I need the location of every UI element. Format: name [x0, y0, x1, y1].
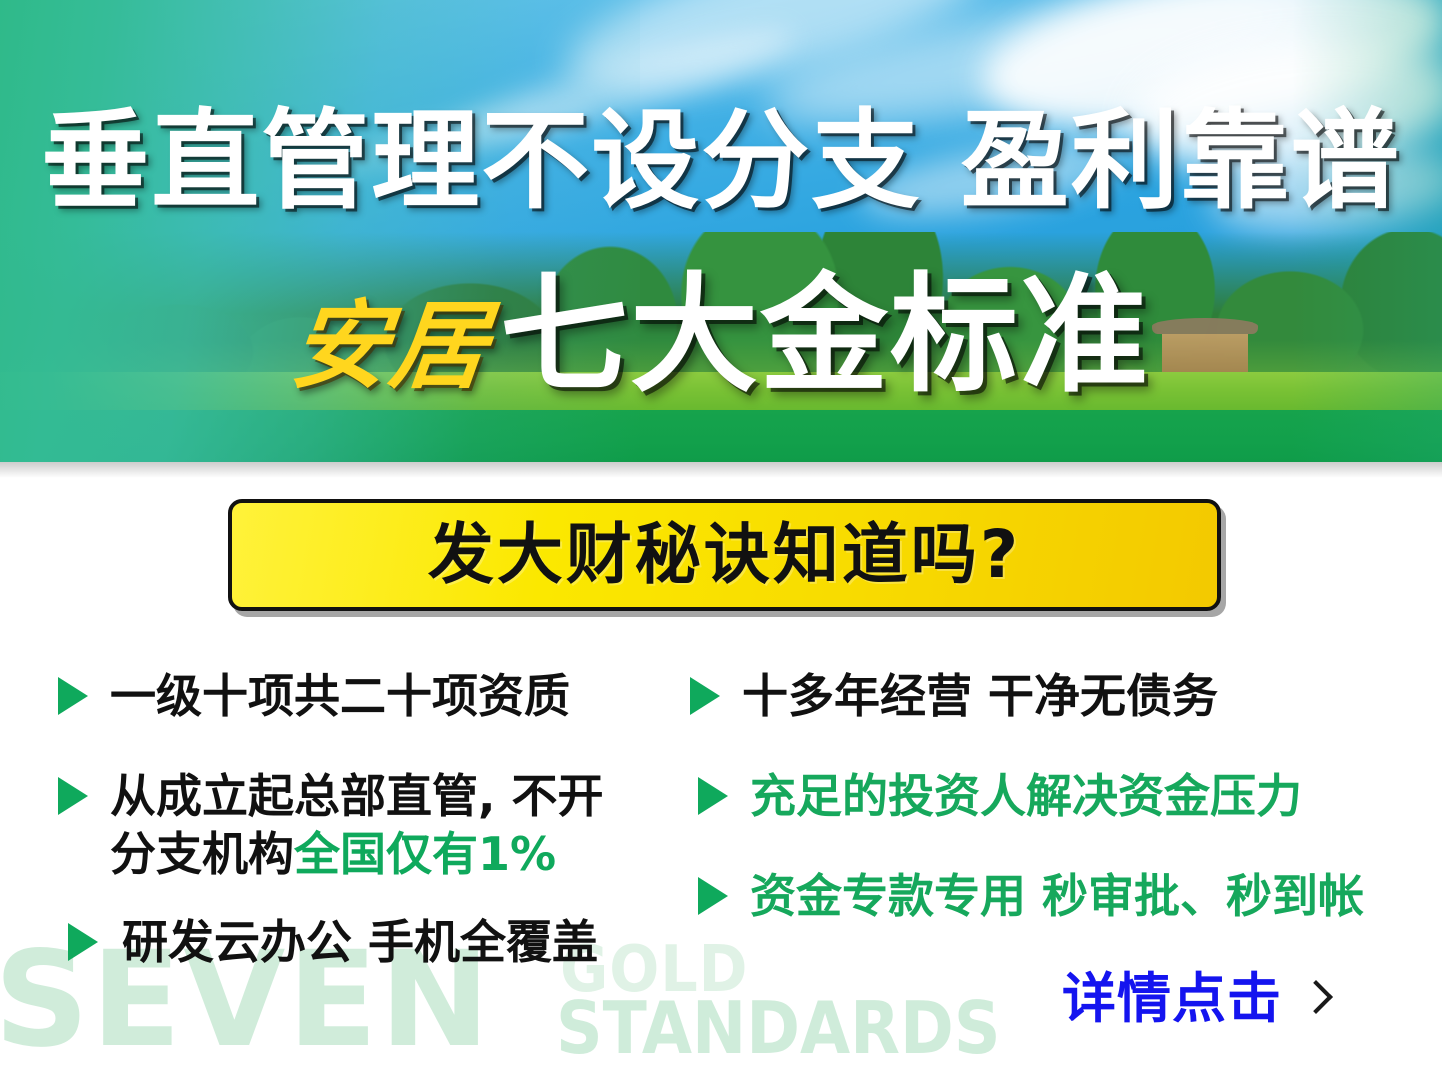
feature-text-highlight: 全国仅有1% — [294, 827, 556, 881]
feature-item-cloud-office: 研发云办公 手机全覆盖 — [68, 913, 598, 971]
feature-item-text: 资金专款专用 秒审批、秒到帐 — [750, 867, 1364, 925]
feature-item-text: 研发云办公 手机全覆盖 — [122, 913, 598, 971]
feature-list: 一级十项共二十项资质 从成立起总部直管, 不开 分支机构全国仅有1% 研发云办公… — [0, 655, 1442, 995]
feature-text-segment: 一级十项共二十项资质 — [110, 669, 570, 723]
triangle-right-icon — [58, 677, 88, 715]
triangle-right-icon — [68, 923, 98, 961]
hero-headline: 垂直管理不设分支 盈利靠谱 — [0, 108, 1442, 216]
details-cta-label: 详情点击 — [1062, 972, 1282, 1026]
watermark-line-standards: STANDARDS — [556, 992, 1001, 1064]
feature-item-sufficient-investors: 充足的投资人解决资金压力 — [698, 767, 1302, 825]
feature-text-segment: 资金专款专用 秒审批、秒到帐 — [750, 869, 1364, 923]
brand-main-text: 七大金标准 — [500, 272, 1150, 400]
hero-text-group: 垂直管理不设分支 盈利靠谱 安居七大金标准 — [0, 0, 1442, 462]
highlight-banner[interactable]: 发大财秘诀知道吗? — [228, 499, 1221, 611]
feature-item-qualifications: 一级十项共二十项资质 — [58, 667, 570, 725]
highlight-banner-label: 发大财秘诀知道吗? — [428, 522, 1021, 588]
feature-text-segment: 从成立起总部直管, 不开 — [110, 769, 604, 823]
feature-item-text: 一级十项共二十项资质 — [110, 667, 570, 725]
details-cta-link[interactable]: 详情点击 — [1062, 972, 1324, 1026]
feature-item-text: 从成立起总部直管, 不开 分支机构全国仅有1% — [110, 767, 604, 883]
triangle-right-icon — [698, 877, 728, 915]
hero-subheadline: 安居七大金标准 — [0, 272, 1442, 400]
feature-item-years-of-operation: 十多年经营 干净无债务 — [690, 667, 1218, 725]
hero-drop-shadow — [0, 462, 1442, 478]
chevron-right-icon — [1304, 982, 1324, 1016]
triangle-right-icon — [698, 777, 728, 815]
triangle-right-icon — [58, 777, 88, 815]
feature-item-text: 十多年经营 干净无债务 — [742, 667, 1218, 725]
feature-text-segment: 分支机构 — [110, 827, 294, 881]
feature-item-dedicated-funds: 资金专款专用 秒审批、秒到帐 — [698, 867, 1364, 925]
feature-text-segment: 充足的投资人解决资金压力 — [750, 769, 1302, 823]
triangle-right-icon — [690, 677, 720, 715]
feature-text-segment: 研发云办公 手机全覆盖 — [122, 915, 598, 969]
feature-item-headquarters-direct-management: 从成立起总部直管, 不开 分支机构全国仅有1% — [58, 767, 604, 883]
feature-text-segment: 十多年经营 干净无债务 — [742, 669, 1218, 723]
brand-prefix-text: 安居 — [287, 298, 495, 394]
hero-section: 垂直管理不设分支 盈利靠谱 安居七大金标准 — [0, 0, 1442, 462]
ad-banner-page: 垂直管理不设分支 盈利靠谱 安居七大金标准 发大财秘诀知道吗? SEVEN GO… — [0, 0, 1442, 1066]
feature-item-text: 充足的投资人解决资金压力 — [750, 767, 1302, 825]
